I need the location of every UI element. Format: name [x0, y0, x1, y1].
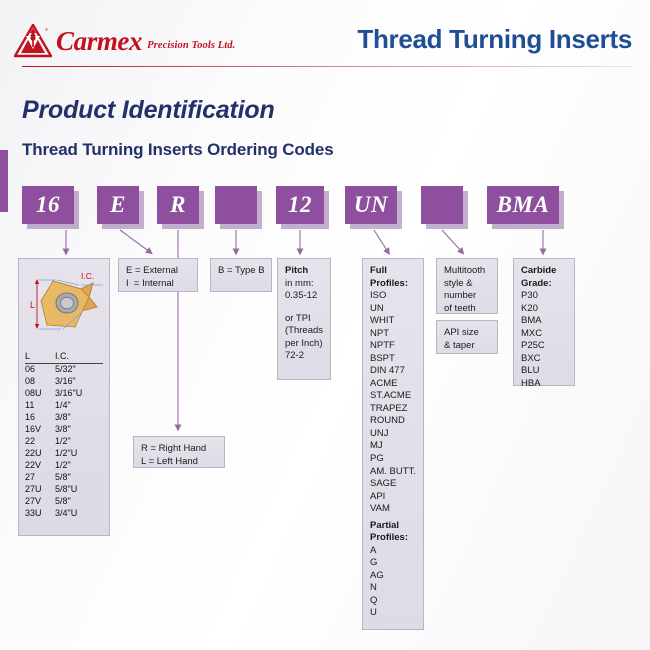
carbide-grade-item: BXC	[521, 353, 567, 366]
size-cell-ic: 3/8"	[55, 412, 103, 424]
size-cell-l: 16	[25, 412, 55, 424]
size-cell-ic: 3/16"U	[55, 388, 103, 400]
svg-text:®: ®	[45, 27, 48, 32]
size-cell-l: 22	[25, 436, 55, 448]
size-table-row: 065/32"	[25, 364, 105, 376]
pitch-mm-label: in mm:	[285, 278, 323, 291]
code-box-label: UN	[354, 192, 388, 218]
size-cell-ic: 1/2"U	[55, 448, 103, 460]
carmex-logo: ® Carmex Precision Tools Ltd.	[14, 24, 235, 58]
size-table-row: 083/16"	[25, 376, 105, 388]
brand-name: Carmex	[56, 28, 142, 55]
partial-profiles-heading-1: Partial	[370, 520, 416, 533]
full-profile-item: UN	[370, 303, 416, 316]
code-box-pitch[interactable]: 12	[276, 186, 324, 224]
size-cell-ic: 5/8"U	[55, 484, 103, 496]
full-profile-item: AM. BUTT.	[370, 466, 416, 479]
size-table-row: 08U3/16"U	[25, 388, 105, 400]
pitch-spacer	[285, 303, 323, 313]
desc-profiles: Full Profiles: ISOUNWHITNPTNPTFBSPTDIN 4…	[362, 258, 424, 630]
code-box-label: R	[170, 192, 186, 218]
header-title: Thread Turning Inserts	[357, 24, 632, 55]
partial-profiles-heading-2: Profiles:	[370, 532, 416, 545]
partial-profile-item: A	[370, 545, 416, 558]
size-cell-l: 22U	[25, 448, 55, 460]
size-table-col-l: L	[25, 351, 55, 364]
ext-line: E = External	[126, 265, 190, 278]
full-profile-item: TRAPEZ	[370, 403, 416, 416]
size-table-row: 221/2"	[25, 436, 105, 448]
partial-profile-item: Q	[370, 595, 416, 608]
full-profile-item: ROUND	[370, 415, 416, 428]
page-title: Product Identification	[22, 96, 275, 125]
full-profile-item: ISO	[370, 290, 416, 303]
carbide-grade-list: P30K20BMAMXCP25CBXCBLUHBA	[521, 290, 567, 390]
full-profiles-heading-1: Full	[370, 265, 416, 278]
desc-multitooth: Multitooth style & number of teeth	[436, 258, 498, 314]
int-line: I = Internal	[126, 278, 190, 291]
desc-api-size: API size & taper	[436, 320, 498, 354]
size-cell-l: 27U	[25, 484, 55, 496]
pitch-tpi-note2: per Inch)	[285, 338, 323, 351]
purple-accent-bar	[0, 150, 8, 212]
insert-size-panel: L I.C. L I.C. 065/32"083/16"08U3/16"U111…	[18, 258, 110, 536]
desc-hand: R = Right Hand L = Left Hand	[133, 436, 225, 468]
api-line-2: & taper	[444, 340, 490, 353]
insert-diagram-icon: L I.C.	[19, 263, 111, 347]
code-box-profile[interactable]: UN	[345, 186, 397, 224]
size-table-row: 27V5/8"	[25, 496, 105, 508]
size-cell-l: 16V	[25, 424, 55, 436]
full-profile-item: SAGE	[370, 478, 416, 491]
carbide-grade-item: BLU	[521, 365, 567, 378]
page-header: ® Carmex Precision Tools Ltd. Thread Tur…	[0, 0, 650, 72]
size-cell-ic: 1/2"	[55, 460, 103, 472]
full-profile-item: ACME	[370, 378, 416, 391]
size-table-row: 163/8"	[25, 412, 105, 424]
page-root: ® Carmex Precision Tools Ltd. Thread Tur…	[0, 0, 650, 650]
full-profile-item: PG	[370, 453, 416, 466]
page-subtitle: Thread Turning Inserts Ordering Codes	[22, 140, 334, 160]
full-profile-item: DIN 477	[370, 365, 416, 378]
size-cell-ic: 1/4"	[55, 400, 103, 412]
size-cell-l: 11	[25, 400, 55, 412]
code-box-multitooth[interactable]	[421, 186, 463, 224]
carbide-heading-1: Carbide	[521, 265, 567, 278]
pitch-tpi-label: or TPI	[285, 313, 323, 326]
size-cell-ic: 1/2"	[55, 436, 103, 448]
type-b-line: B = Type B	[218, 265, 264, 278]
size-table-row: 22V1/2"	[25, 460, 105, 472]
multitooth-line-4: of teeth	[444, 303, 490, 316]
size-table: L I.C. 065/32"083/16"08U3/16"U111/4"163/…	[25, 351, 105, 520]
code-box-hand[interactable]: R	[157, 186, 199, 224]
code-box-size[interactable]: 16	[22, 186, 74, 224]
partial-profile-item: N	[370, 582, 416, 595]
desc-pitch: Pitch in mm: 0.35-12 or TPI (Threads per…	[277, 258, 331, 380]
right-hand-line: R = Right Hand	[141, 443, 217, 456]
code-box-int-ext[interactable]: E	[97, 186, 139, 224]
size-cell-ic: 3/8"	[55, 424, 103, 436]
dimension-ic-label: I.C.	[81, 271, 94, 281]
size-table-col-ic: I.C.	[55, 351, 103, 364]
desc-internal-external: E = External I = Internal	[118, 258, 198, 292]
size-cell-l: 08U	[25, 388, 55, 400]
multitooth-line-1: Multitooth	[444, 265, 490, 278]
carbide-grade-item: MXC	[521, 328, 567, 341]
partial-profiles-list: AGAGNQU	[370, 545, 416, 620]
desc-type-b: B = Type B	[210, 258, 272, 292]
code-box-label: BMA	[497, 192, 550, 218]
pitch-tpi-note1: (Threads	[285, 325, 323, 338]
carbide-grade-item: K20	[521, 303, 567, 316]
full-profiles-heading-2: Profiles:	[370, 278, 416, 291]
size-cell-ic: 3/4"U	[55, 508, 103, 520]
api-line-1: API size	[444, 327, 490, 340]
carbide-grade-item: HBA	[521, 378, 567, 391]
partial-profile-item: U	[370, 607, 416, 620]
full-profile-item: MJ	[370, 440, 416, 453]
pitch-mm-range: 0.35-12	[285, 290, 323, 303]
full-profile-item: VAM	[370, 503, 416, 516]
size-table-header: L I.C.	[25, 351, 105, 364]
size-cell-l: 33U	[25, 508, 55, 520]
size-cell-l: 22V	[25, 460, 55, 472]
multitooth-line-2: style &	[444, 278, 490, 291]
size-cell-ic: 5/8"	[55, 472, 103, 484]
full-profile-item: ST.ACME	[370, 390, 416, 403]
size-table-row: 111/4"	[25, 400, 105, 412]
full-profiles-list: ISOUNWHITNPTNPTFBSPTDIN 477ACMEST.ACMETR…	[370, 290, 416, 516]
size-table-row: 27U5/8"U	[25, 484, 105, 496]
carbide-grade-item: P30	[521, 290, 567, 303]
full-profile-item: BSPT	[370, 353, 416, 366]
desc-carbide-grade: Carbide Grade: P30K20BMAMXCP25CBXCBLUHBA	[513, 258, 575, 386]
size-cell-l: 08	[25, 376, 55, 388]
pitch-tpi-range: 72-2	[285, 350, 323, 363]
size-cell-ic: 3/16"	[55, 376, 103, 388]
code-box-type[interactable]	[215, 186, 257, 224]
partial-profile-item: AG	[370, 570, 416, 583]
pitch-heading: Pitch	[285, 265, 323, 278]
dimension-l-label: L	[30, 300, 35, 310]
code-box-label: 12	[288, 192, 312, 218]
full-profile-item: NPT	[370, 328, 416, 341]
multitooth-line-3: number	[444, 290, 490, 303]
code-box-label: 16	[36, 192, 60, 218]
size-table-row: 33U3/4"U	[25, 508, 105, 520]
carbide-grade-item: P25C	[521, 340, 567, 353]
size-table-row: 22U1/2"U	[25, 448, 105, 460]
size-cell-ic: 5/32"	[55, 364, 103, 376]
partial-profile-item: G	[370, 557, 416, 570]
carmex-triangle-icon: ®	[14, 24, 52, 58]
code-box-grade[interactable]: BMA	[487, 186, 559, 224]
carbide-grade-item: BMA	[521, 315, 567, 328]
size-cell-l: 27V	[25, 496, 55, 508]
size-cell-l: 06	[25, 364, 55, 376]
size-table-row: 16V3/8"	[25, 424, 105, 436]
code-box-label: E	[110, 192, 126, 218]
full-profile-item: UNJ	[370, 428, 416, 441]
size-table-row: 275/8"	[25, 472, 105, 484]
full-profile-item: NPTF	[370, 340, 416, 353]
header-divider	[22, 66, 632, 67]
left-hand-line: L = Left Hand	[141, 456, 217, 469]
full-profile-item: API	[370, 491, 416, 504]
carbide-heading-2: Grade:	[521, 278, 567, 291]
full-profile-item: WHIT	[370, 315, 416, 328]
size-cell-l: 27	[25, 472, 55, 484]
size-table-body: 065/32"083/16"08U3/16"U111/4"163/8"16V3/…	[25, 364, 105, 520]
size-cell-ic: 5/8"	[55, 496, 103, 508]
brand-tagline: Precision Tools Ltd.	[147, 40, 235, 51]
